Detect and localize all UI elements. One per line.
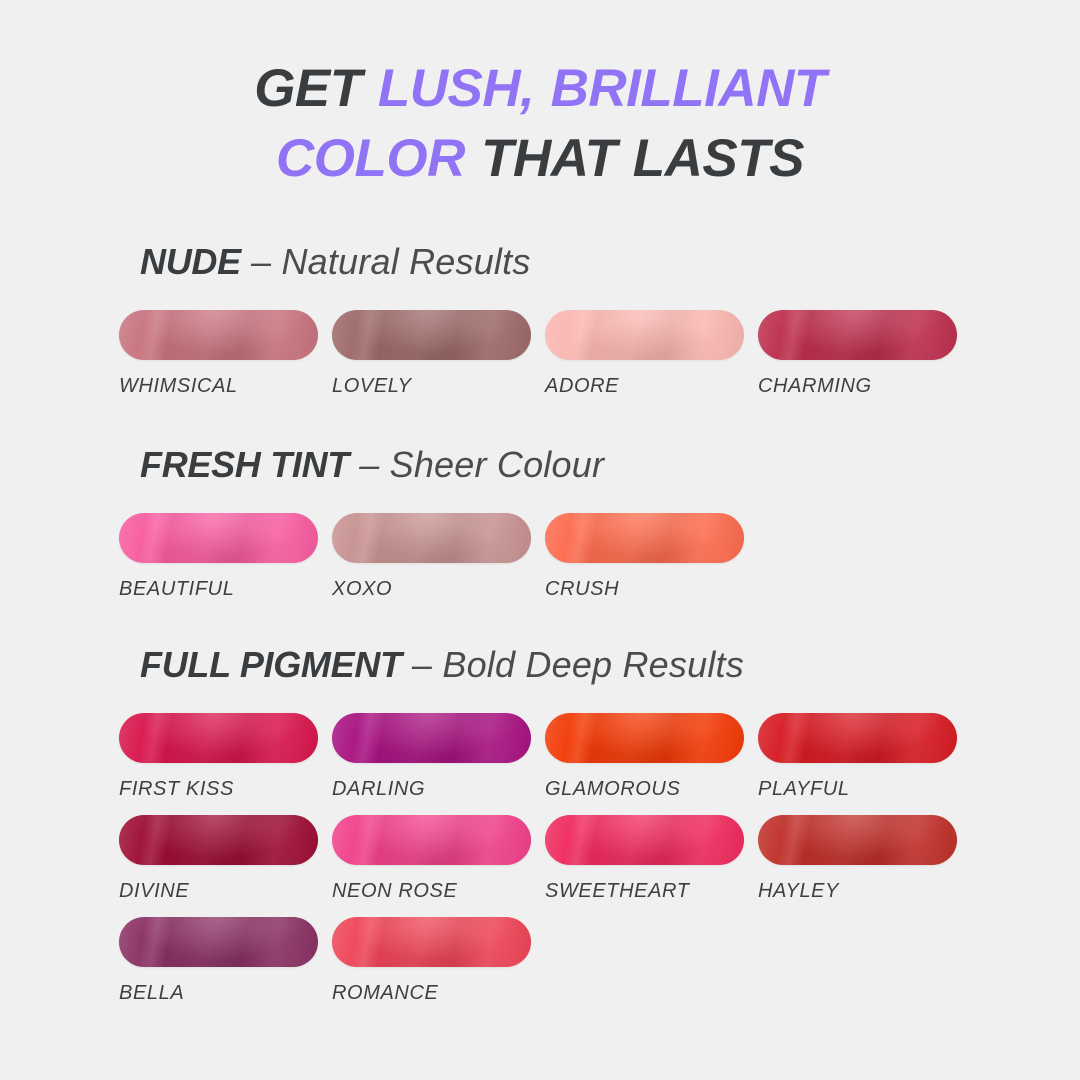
category-name: NUDE: [140, 241, 241, 282]
swatch-cell[interactable]: PLAYFUL: [758, 713, 971, 800]
swatch-chip[interactable]: [545, 310, 744, 360]
swatch-cell[interactable]: GLAMOROUS: [545, 713, 758, 800]
category-description: – Natural Results: [241, 241, 531, 282]
category-description: – Bold Deep Results: [402, 644, 744, 685]
section-heading-nude: NUDE – Natural Results: [140, 240, 1080, 284]
category-name: FRESH TINT: [140, 444, 349, 485]
swatch-chip[interactable]: [758, 310, 957, 360]
headline-line-1: GET LUSH, BRILLIANT: [0, 54, 1080, 124]
swatch-cell[interactable]: CHARMING: [758, 310, 971, 397]
swatch-grid-nude: WHIMSICAL LOVELY ADORE CHARMING: [119, 310, 999, 412]
swatch-label: SWEETHEART: [545, 880, 758, 902]
swatch-label: CRUSH: [545, 578, 758, 600]
swatch-cell[interactable]: SWEETHEART: [545, 815, 758, 902]
swatch-cell[interactable]: HAYLEY: [758, 815, 971, 902]
swatch-cell[interactable]: ROMANCE: [332, 917, 545, 1004]
swatch-cell[interactable]: DIVINE: [119, 815, 332, 902]
category-name: FULL PIGMENT: [140, 644, 402, 685]
swatch-label: WHIMSICAL: [119, 375, 332, 397]
swatch-cell[interactable]: BELLA: [119, 917, 332, 1004]
swatch-chip[interactable]: [332, 513, 531, 563]
swatch-cell[interactable]: NEON ROSE: [332, 815, 545, 902]
swatch-cell[interactable]: DARLING: [332, 713, 545, 800]
swatch-chip[interactable]: [119, 310, 318, 360]
swatch-chip[interactable]: [758, 713, 957, 763]
swatch-chip[interactable]: [332, 917, 531, 967]
section-heading-full-pigment: FULL PIGMENT – Bold Deep Results: [140, 643, 1080, 687]
headline-that-lasts: THAT LASTS: [465, 129, 804, 188]
swatch-chip[interactable]: [119, 713, 318, 763]
swatch-label: LOVELY: [332, 375, 545, 397]
swatch-label: PLAYFUL: [758, 778, 971, 800]
swatch-cell[interactable]: CRUSH: [545, 513, 758, 600]
swatch-cell[interactable]: WHIMSICAL: [119, 310, 332, 397]
category-description: – Sheer Colour: [349, 444, 604, 485]
headline-get: GET: [254, 59, 378, 118]
swatch-chip[interactable]: [332, 713, 531, 763]
swatch-cell[interactable]: FIRST KISS: [119, 713, 332, 800]
swatch-chip[interactable]: [119, 917, 318, 967]
swatch-grid-full-pigment: FIRST KISS DARLING GLAMOROUS PLAYFUL DIV…: [119, 713, 999, 1019]
page-title: GET LUSH, BRILLIANT COLOR THAT LASTS: [0, 54, 1080, 194]
swatch-chip[interactable]: [758, 815, 957, 865]
swatch-cell[interactable]: BEAUTIFUL: [119, 513, 332, 600]
swatch-chip[interactable]: [545, 815, 744, 865]
swatch-label: XOXO: [332, 578, 545, 600]
section-nude: NUDE – Natural Results WHIMSICAL LOVELY …: [0, 240, 1080, 412]
swatch-chip[interactable]: [332, 815, 531, 865]
headline-lush-brilliant: LUSH, BRILLIANT: [378, 59, 826, 118]
swatch-label: DIVINE: [119, 880, 332, 902]
swatch-grid-fresh-tint: BEAUTIFUL XOXO CRUSH: [119, 513, 999, 615]
swatch-label: ADORE: [545, 375, 758, 397]
swatch-label: BELLA: [119, 982, 332, 1004]
swatch-chip[interactable]: [545, 513, 744, 563]
swatch-label: GLAMOROUS: [545, 778, 758, 800]
swatch-cell[interactable]: ADORE: [545, 310, 758, 397]
swatch-label: BEAUTIFUL: [119, 578, 332, 600]
swatch-label: FIRST KISS: [119, 778, 332, 800]
swatch-label: ROMANCE: [332, 982, 545, 1004]
swatch-cell[interactable]: LOVELY: [332, 310, 545, 397]
swatch-label: CHARMING: [758, 375, 971, 397]
swatch-chip[interactable]: [119, 513, 318, 563]
swatch-label: NEON ROSE: [332, 880, 545, 902]
headline-line-2: COLOR THAT LASTS: [0, 124, 1080, 194]
swatch-chip[interactable]: [119, 815, 318, 865]
headline-color: COLOR: [276, 129, 465, 188]
swatch-chip[interactable]: [545, 713, 744, 763]
section-heading-fresh-tint: FRESH TINT – Sheer Colour: [140, 443, 1080, 487]
swatch-label: DARLING: [332, 778, 545, 800]
swatch-chip[interactable]: [332, 310, 531, 360]
section-full-pigment: FULL PIGMENT – Bold Deep Results FIRST K…: [0, 643, 1080, 1019]
section-fresh-tint: FRESH TINT – Sheer Colour BEAUTIFUL XOXO…: [0, 443, 1080, 615]
swatch-label: HAYLEY: [758, 880, 971, 902]
swatch-cell[interactable]: XOXO: [332, 513, 545, 600]
